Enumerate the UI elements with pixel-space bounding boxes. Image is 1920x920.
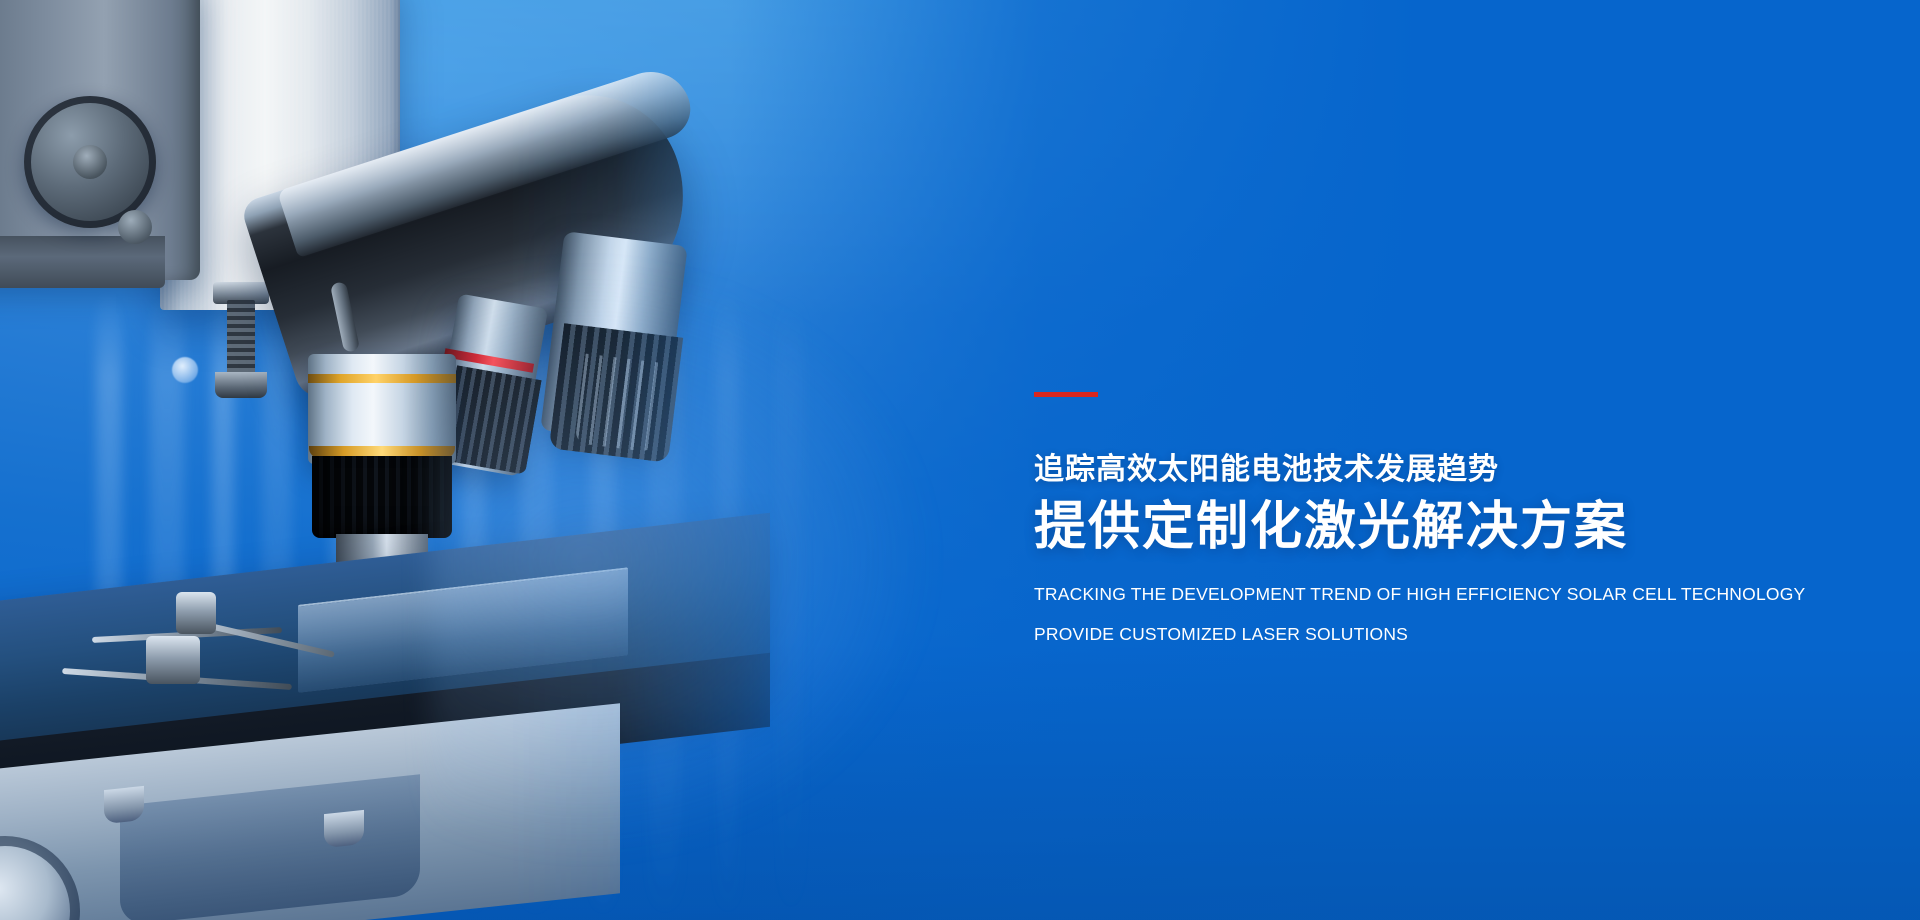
english-tagline-2: PROVIDE CUSTOMIZED LASER SOLUTIONS: [1034, 626, 1834, 644]
hero-copy-block: 追踪高效太阳能电池技术发展趋势 提供定制化激光解决方案 TRACKING THE…: [1034, 392, 1834, 643]
accent-rule: [1034, 392, 1098, 397]
page-title: 提供定制化激光解决方案: [1034, 498, 1834, 556]
adjustment-screw-foot: [215, 372, 267, 398]
coarse-focus-knob: [24, 96, 156, 228]
stage-clip-post-upper: [176, 592, 216, 634]
adjustment-screw-shaft: [227, 300, 255, 374]
stage-clip-post-lower: [146, 636, 200, 684]
headline-subtitle: 追踪高效太阳能电池技术发展趋势: [1034, 453, 1834, 486]
focus-arm-lower-block: [0, 236, 165, 288]
photo-edge-glow: [430, 250, 950, 870]
hero-banner: 追踪高效太阳能电池技术发展趋势 提供定制化激光解决方案 TRACKING THE…: [0, 0, 1920, 920]
english-tagline-1: TRACKING THE DEVELOPMENT TREND OF HIGH E…: [1034, 586, 1834, 604]
fine-focus-knob: [118, 210, 152, 244]
lens-flare-dot: [172, 357, 198, 383]
